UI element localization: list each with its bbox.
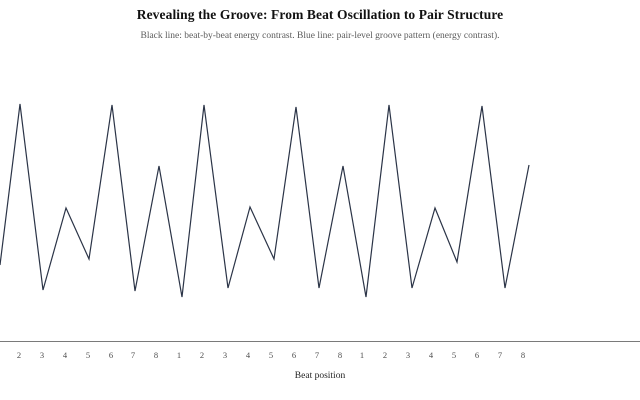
x-tick-label: 8 [513, 349, 533, 361]
x-tick-label: 7 [307, 349, 327, 361]
x-tick-label: 7 [123, 349, 143, 361]
x-tick-label: 7 [490, 349, 510, 361]
plot-area [0, 0, 640, 345]
x-tick-label: 2 [192, 349, 212, 361]
x-tick-label: 3 [398, 349, 418, 361]
x-tick-label: 8 [146, 349, 166, 361]
x-axis-title: Beat position [0, 370, 640, 382]
x-tick-label: 1 [169, 349, 189, 361]
figure-container: Revealing the Groove: From Beat Oscillat… [0, 0, 640, 400]
x-axis-line [0, 341, 640, 342]
x-tick-label: 5 [78, 349, 98, 361]
x-tick-label: 5 [261, 349, 281, 361]
x-tick-label: 6 [101, 349, 121, 361]
x-tick-label: 4 [55, 349, 75, 361]
x-tick-label: 3 [32, 349, 52, 361]
x-tick-label: 6 [284, 349, 304, 361]
x-tick-label: 8 [330, 349, 350, 361]
x-tick-label: 6 [467, 349, 487, 361]
energy-contrast-line [0, 104, 529, 297]
x-tick-label: 2 [375, 349, 395, 361]
x-tick-label: 2 [9, 349, 29, 361]
x-axis-tick-labels: 23456781234567812345678 [0, 349, 640, 363]
x-tick-label: 5 [444, 349, 464, 361]
x-tick-label: 3 [215, 349, 235, 361]
x-tick-label: 1 [352, 349, 372, 361]
x-tick-label: 4 [421, 349, 441, 361]
x-tick-label: 4 [238, 349, 258, 361]
line-plot-svg [0, 0, 640, 345]
